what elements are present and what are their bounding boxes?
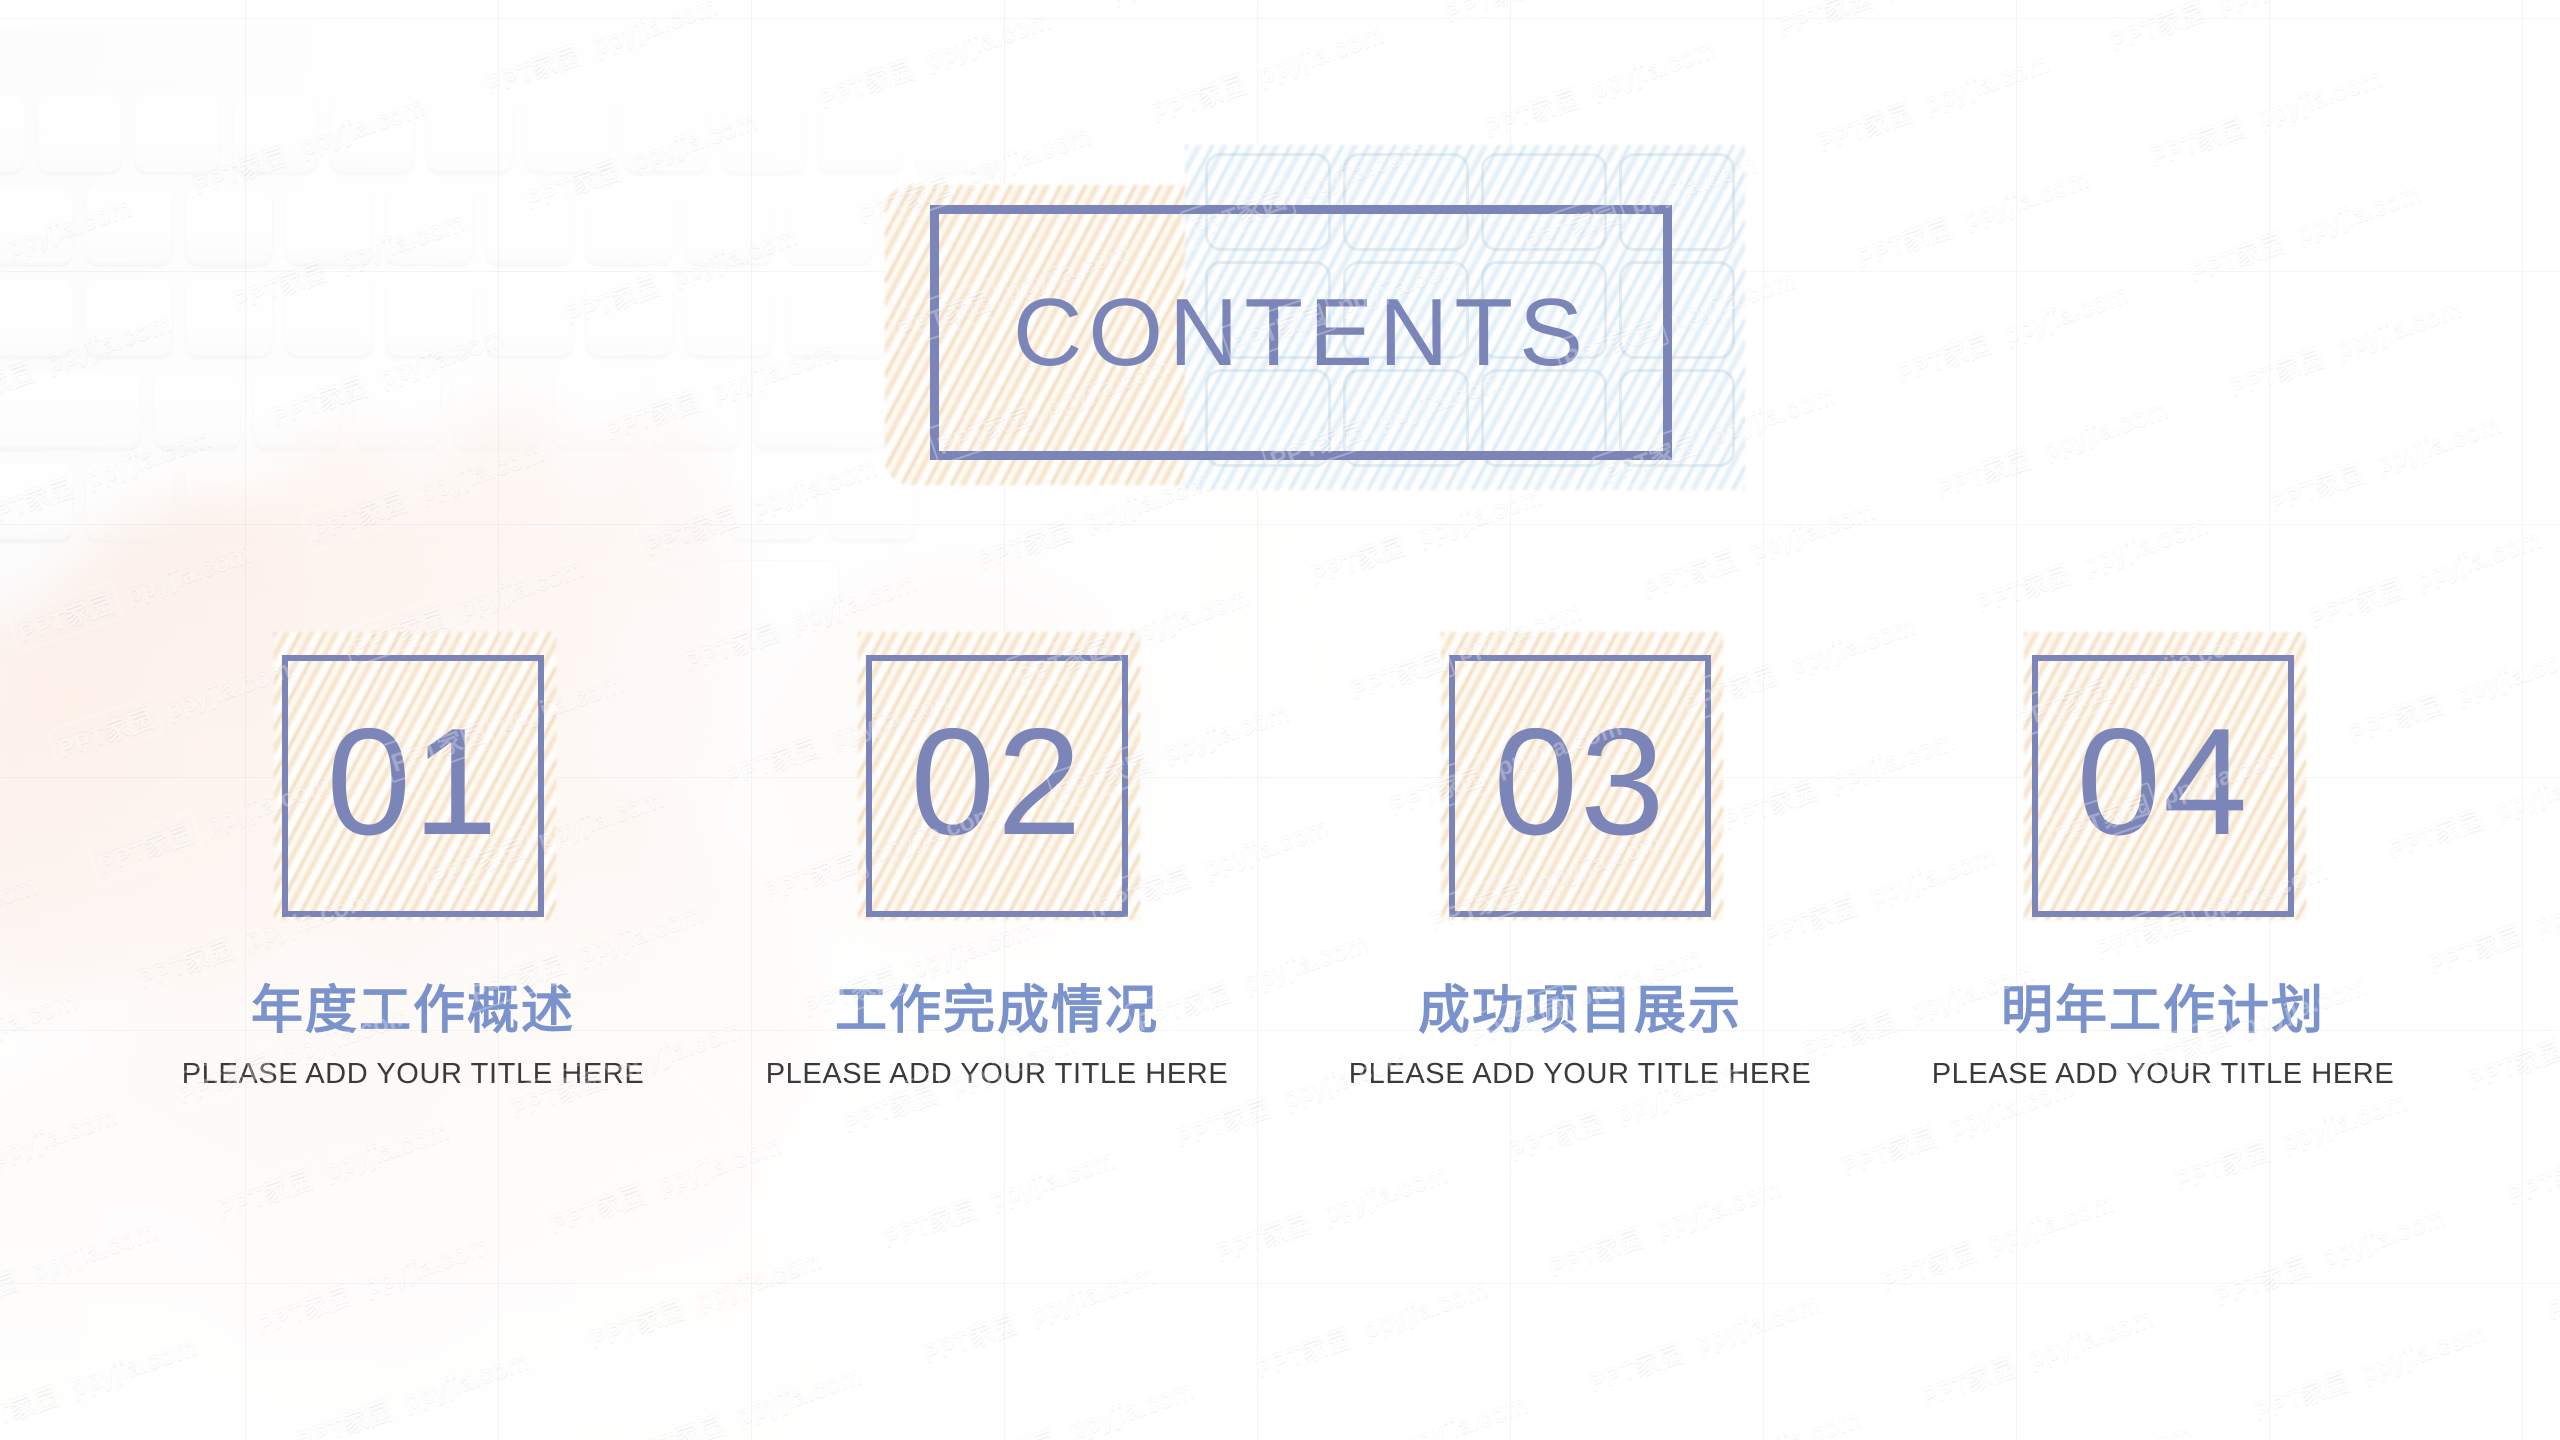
contents-frame: CONTENTS <box>930 205 1672 460</box>
item-subtitle: PLEASE ADD YOUR TITLE HERE <box>707 1058 1287 1091</box>
contents-item-02[interactable]: 02 工作完成情况 PLEASE ADD YOUR TITLE HERE <box>707 630 1287 1091</box>
number-badge: 04 <box>2018 630 2308 920</box>
contents-item-01[interactable]: 01 年度工作概述 PLEASE ADD YOUR TITLE HERE <box>123 630 703 1091</box>
page-title: CONTENTS <box>1013 285 1589 381</box>
contents-slide: CONTENTS 01 年度工作概述 PLEASE ADD YOUR TITLE… <box>0 0 2560 1440</box>
item-title: 成功项目展示 <box>1290 982 1870 1042</box>
number-badge: 01 <box>268 630 558 920</box>
number-frame: 01 <box>282 655 544 917</box>
item-title: 年度工作概述 <box>123 982 703 1042</box>
number-label: 04 <box>2076 706 2249 858</box>
item-title: 明年工作计划 <box>1873 982 2453 1042</box>
number-label: 03 <box>1493 706 1666 858</box>
number-frame: 04 <box>2032 655 2294 917</box>
number-label: 01 <box>326 706 499 858</box>
number-label: 02 <box>910 706 1083 858</box>
contents-item-04[interactable]: 04 明年工作计划 PLEASE ADD YOUR TITLE HERE <box>1873 630 2453 1091</box>
number-frame: 03 <box>1449 655 1711 917</box>
item-subtitle: PLEASE ADD YOUR TITLE HERE <box>1290 1058 1870 1091</box>
contents-header: CONTENTS <box>885 185 1720 485</box>
number-badge: 02 <box>852 630 1142 920</box>
item-subtitle: PLEASE ADD YOUR TITLE HERE <box>123 1058 703 1091</box>
number-frame: 02 <box>866 655 1128 917</box>
number-badge: 03 <box>1435 630 1725 920</box>
item-subtitle: PLEASE ADD YOUR TITLE HERE <box>1873 1058 2453 1091</box>
contents-item-03[interactable]: 03 成功项目展示 PLEASE ADD YOUR TITLE HERE <box>1290 630 1870 1091</box>
contents-item-list: 01 年度工作概述 PLEASE ADD YOUR TITLE HERE 02 … <box>0 630 2560 1150</box>
item-title: 工作完成情况 <box>707 982 1287 1042</box>
